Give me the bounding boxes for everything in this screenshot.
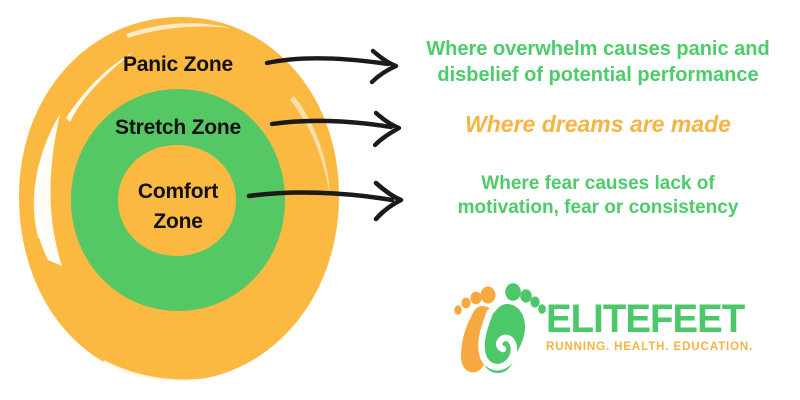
diagram-canvas: Panic Zone Stretch Zone Comfort Zone Whe… bbox=[0, 0, 800, 400]
description-panic: Where overwhelm causes panic and disbeli… bbox=[398, 37, 798, 88]
description-comfort-line2: motivation, fear or consistency bbox=[408, 196, 788, 220]
zone-label-comfort: Comfort Zone bbox=[8, 177, 348, 237]
zone-label-stretch: Stretch Zone bbox=[8, 116, 348, 140]
zone-label-comfort-line2: Zone bbox=[8, 207, 348, 237]
description-panic-line1: Where overwhelm causes panic and bbox=[426, 38, 769, 60]
zone-label-comfort-line1: Comfort bbox=[138, 180, 218, 203]
description-comfort-line1: Where fear causes lack of bbox=[481, 173, 714, 194]
elitefeet-logo: ELITEFEET RUNNING. HEALTH. EDUCATION. bbox=[450, 276, 740, 381]
zone-circles: Panic Zone Stretch Zone Comfort Zone bbox=[8, 10, 348, 390]
logo-tagline-text: RUNNING. HEALTH. EDUCATION. bbox=[546, 341, 746, 353]
zone-label-panic: Panic Zone bbox=[8, 53, 348, 77]
description-stretch: Where dreams are made bbox=[398, 110, 798, 139]
logo-wordmark: ELITEFEET RUNNING. HEALTH. EDUCATION. bbox=[546, 298, 746, 353]
description-comfort: Where fear causes lack of motivation, fe… bbox=[408, 172, 788, 221]
logo-brand-text: ELITEFEET bbox=[546, 298, 738, 340]
description-panic-line2: disbelief of potential performance bbox=[398, 63, 798, 89]
footprints-icon bbox=[450, 276, 550, 376]
description-stretch-line1: Where dreams are made bbox=[465, 111, 731, 137]
